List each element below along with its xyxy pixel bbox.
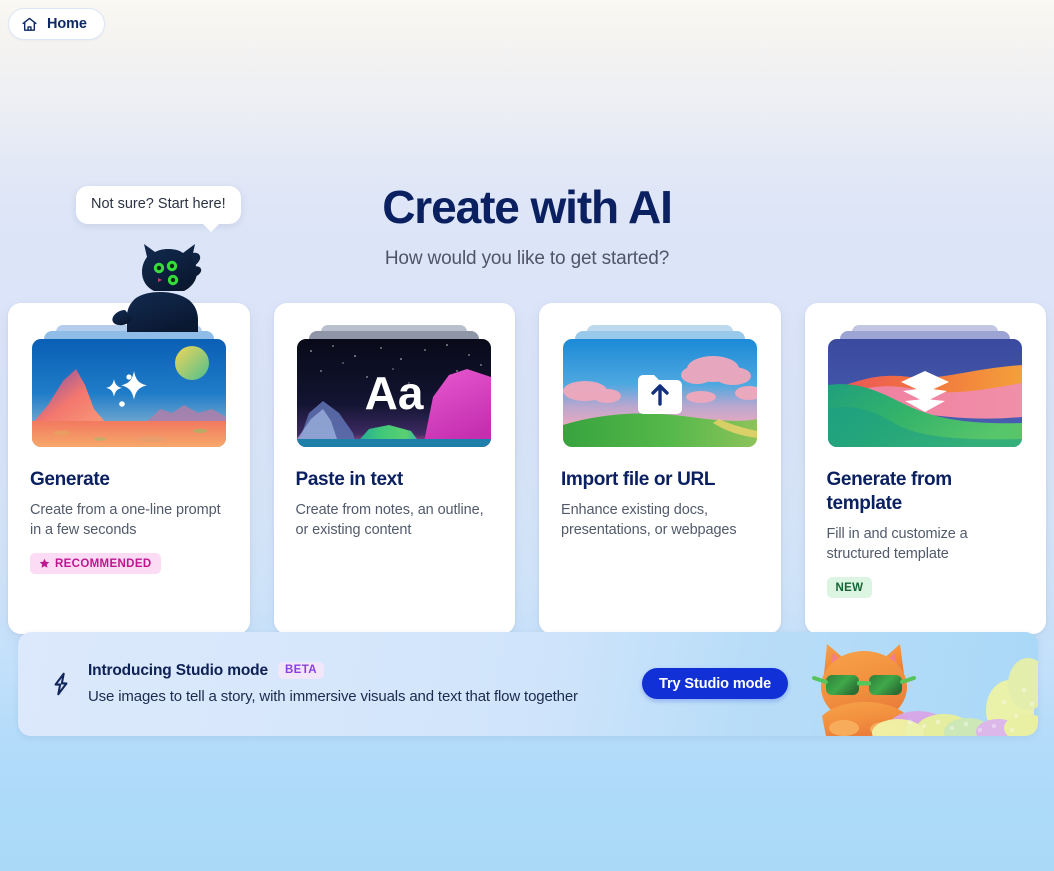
mascot-group: Not sure? Start here! [76, 186, 256, 331]
card-thumbnail: Aa [297, 339, 491, 447]
aa-text-icon: Aa [297, 339, 491, 447]
status-badge-recommended: RECOMMENDED [30, 553, 161, 574]
card-generate-from-template[interactable]: Generate from template Fill in and custo… [805, 303, 1047, 634]
lightning-bolt-icon [48, 671, 74, 697]
card-thumbnail-stack [563, 325, 757, 447]
card-thumbnail-stack: Aa [297, 325, 491, 447]
card-thumbnail-stack [828, 325, 1022, 447]
home-label: Home [47, 16, 87, 32]
studio-mode-banner[interactable]: Introducing Studio mode BETA Use images … [18, 632, 1038, 736]
try-studio-mode-button[interactable]: Try Studio mode [642, 668, 788, 699]
layers-icon [828, 339, 1022, 447]
card-thumbnail [828, 339, 1022, 447]
banner-headline-row: Introducing Studio mode BETA [88, 662, 578, 680]
banner-description: Use images to tell a story, with immersi… [88, 687, 578, 707]
home-breadcrumb-button[interactable]: Home [8, 8, 105, 40]
badge-label: RECOMMENDED [55, 558, 152, 570]
badge-label: NEW [836, 582, 864, 594]
banner-headline: Introducing Studio mode [88, 662, 268, 680]
mascot-tooltip[interactable]: Not sure? Start here! [76, 186, 241, 224]
sparkles-icon [32, 339, 226, 447]
home-icon [21, 16, 38, 33]
card-description: Create from a one-line prompt in a few s… [30, 500, 228, 540]
card-title: Generate from template [827, 468, 1025, 516]
banner-text-block: Introducing Studio mode BETA Use images … [88, 662, 578, 707]
card-generate[interactable]: Generate Create from a one-line prompt i… [8, 303, 250, 634]
card-paste-in-text[interactable]: Aa Paste in text Create from notes, an o… [274, 303, 516, 634]
card-thumbnail [563, 339, 757, 447]
folder-upload-icon [563, 339, 757, 447]
card-description: Fill in and customize a structured templ… [827, 524, 1025, 564]
banner-content: Introducing Studio mode BETA Use images … [18, 632, 578, 736]
card-thumbnail [32, 339, 226, 447]
card-description: Enhance existing docs, presentations, or… [561, 500, 759, 540]
beta-badge: BETA [278, 662, 324, 679]
status-badge-new: NEW [827, 577, 873, 598]
svg-text:Aa: Aa [365, 368, 424, 418]
card-title: Generate [30, 468, 228, 492]
card-thumbnail-stack [32, 325, 226, 447]
card-description: Create from notes, an outline, or existi… [296, 500, 494, 540]
card-title: Import file or URL [561, 468, 759, 492]
card-title: Paste in text [296, 468, 494, 492]
star-icon [39, 558, 50, 569]
card-import-file-or-url[interactable]: Import file or URL Enhance existing docs… [539, 303, 781, 634]
option-card-list: Generate Create from a one-line prompt i… [8, 303, 1046, 634]
